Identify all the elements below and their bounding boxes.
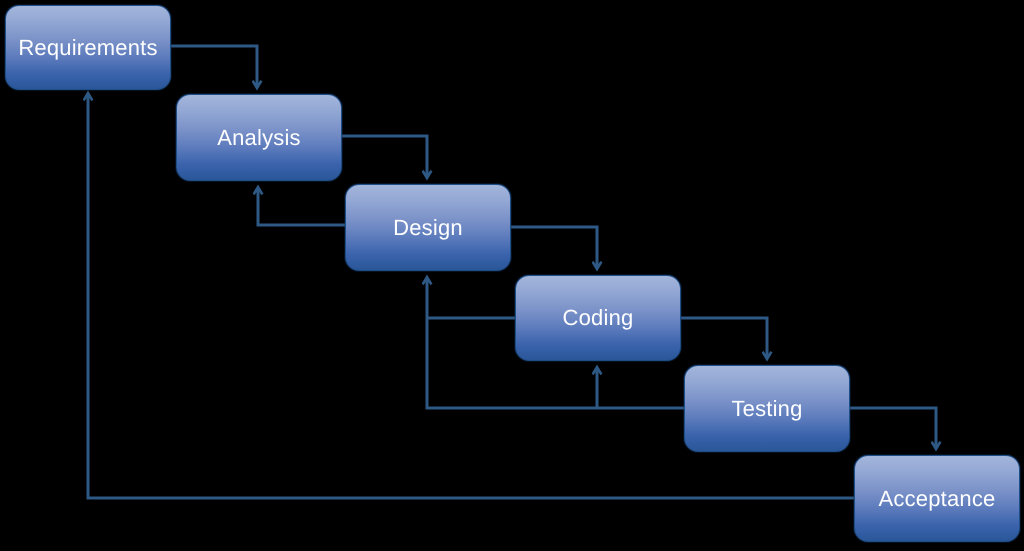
- node-label-requirements: Requirements: [18, 37, 157, 59]
- connector-design-to-coding: [511, 227, 597, 269]
- node-requirements[interactable]: Requirements: [5, 5, 171, 90]
- node-acceptance[interactable]: Acceptance: [854, 455, 1020, 542]
- node-label-coding: Coding: [563, 307, 634, 329]
- node-label-testing: Testing: [731, 398, 802, 420]
- node-testing[interactable]: Testing: [684, 365, 850, 452]
- connector-requirements-to-analysis: [171, 46, 257, 88]
- node-analysis[interactable]: Analysis: [176, 94, 342, 181]
- waterfall-diagram-canvas: Requirements Analysis Design Coding Test…: [0, 0, 1024, 551]
- node-label-acceptance: Acceptance: [879, 488, 996, 510]
- node-coding[interactable]: Coding: [515, 275, 681, 361]
- connector-coding-to-testing: [681, 318, 767, 359]
- node-label-analysis: Analysis: [217, 127, 301, 149]
- connector-testing-to-acceptance: [850, 408, 936, 449]
- connector-analysis-to-design: [342, 136, 427, 178]
- node-label-design: Design: [393, 217, 463, 239]
- connector-design-to-analysis: [258, 187, 345, 225]
- node-design[interactable]: Design: [345, 184, 511, 271]
